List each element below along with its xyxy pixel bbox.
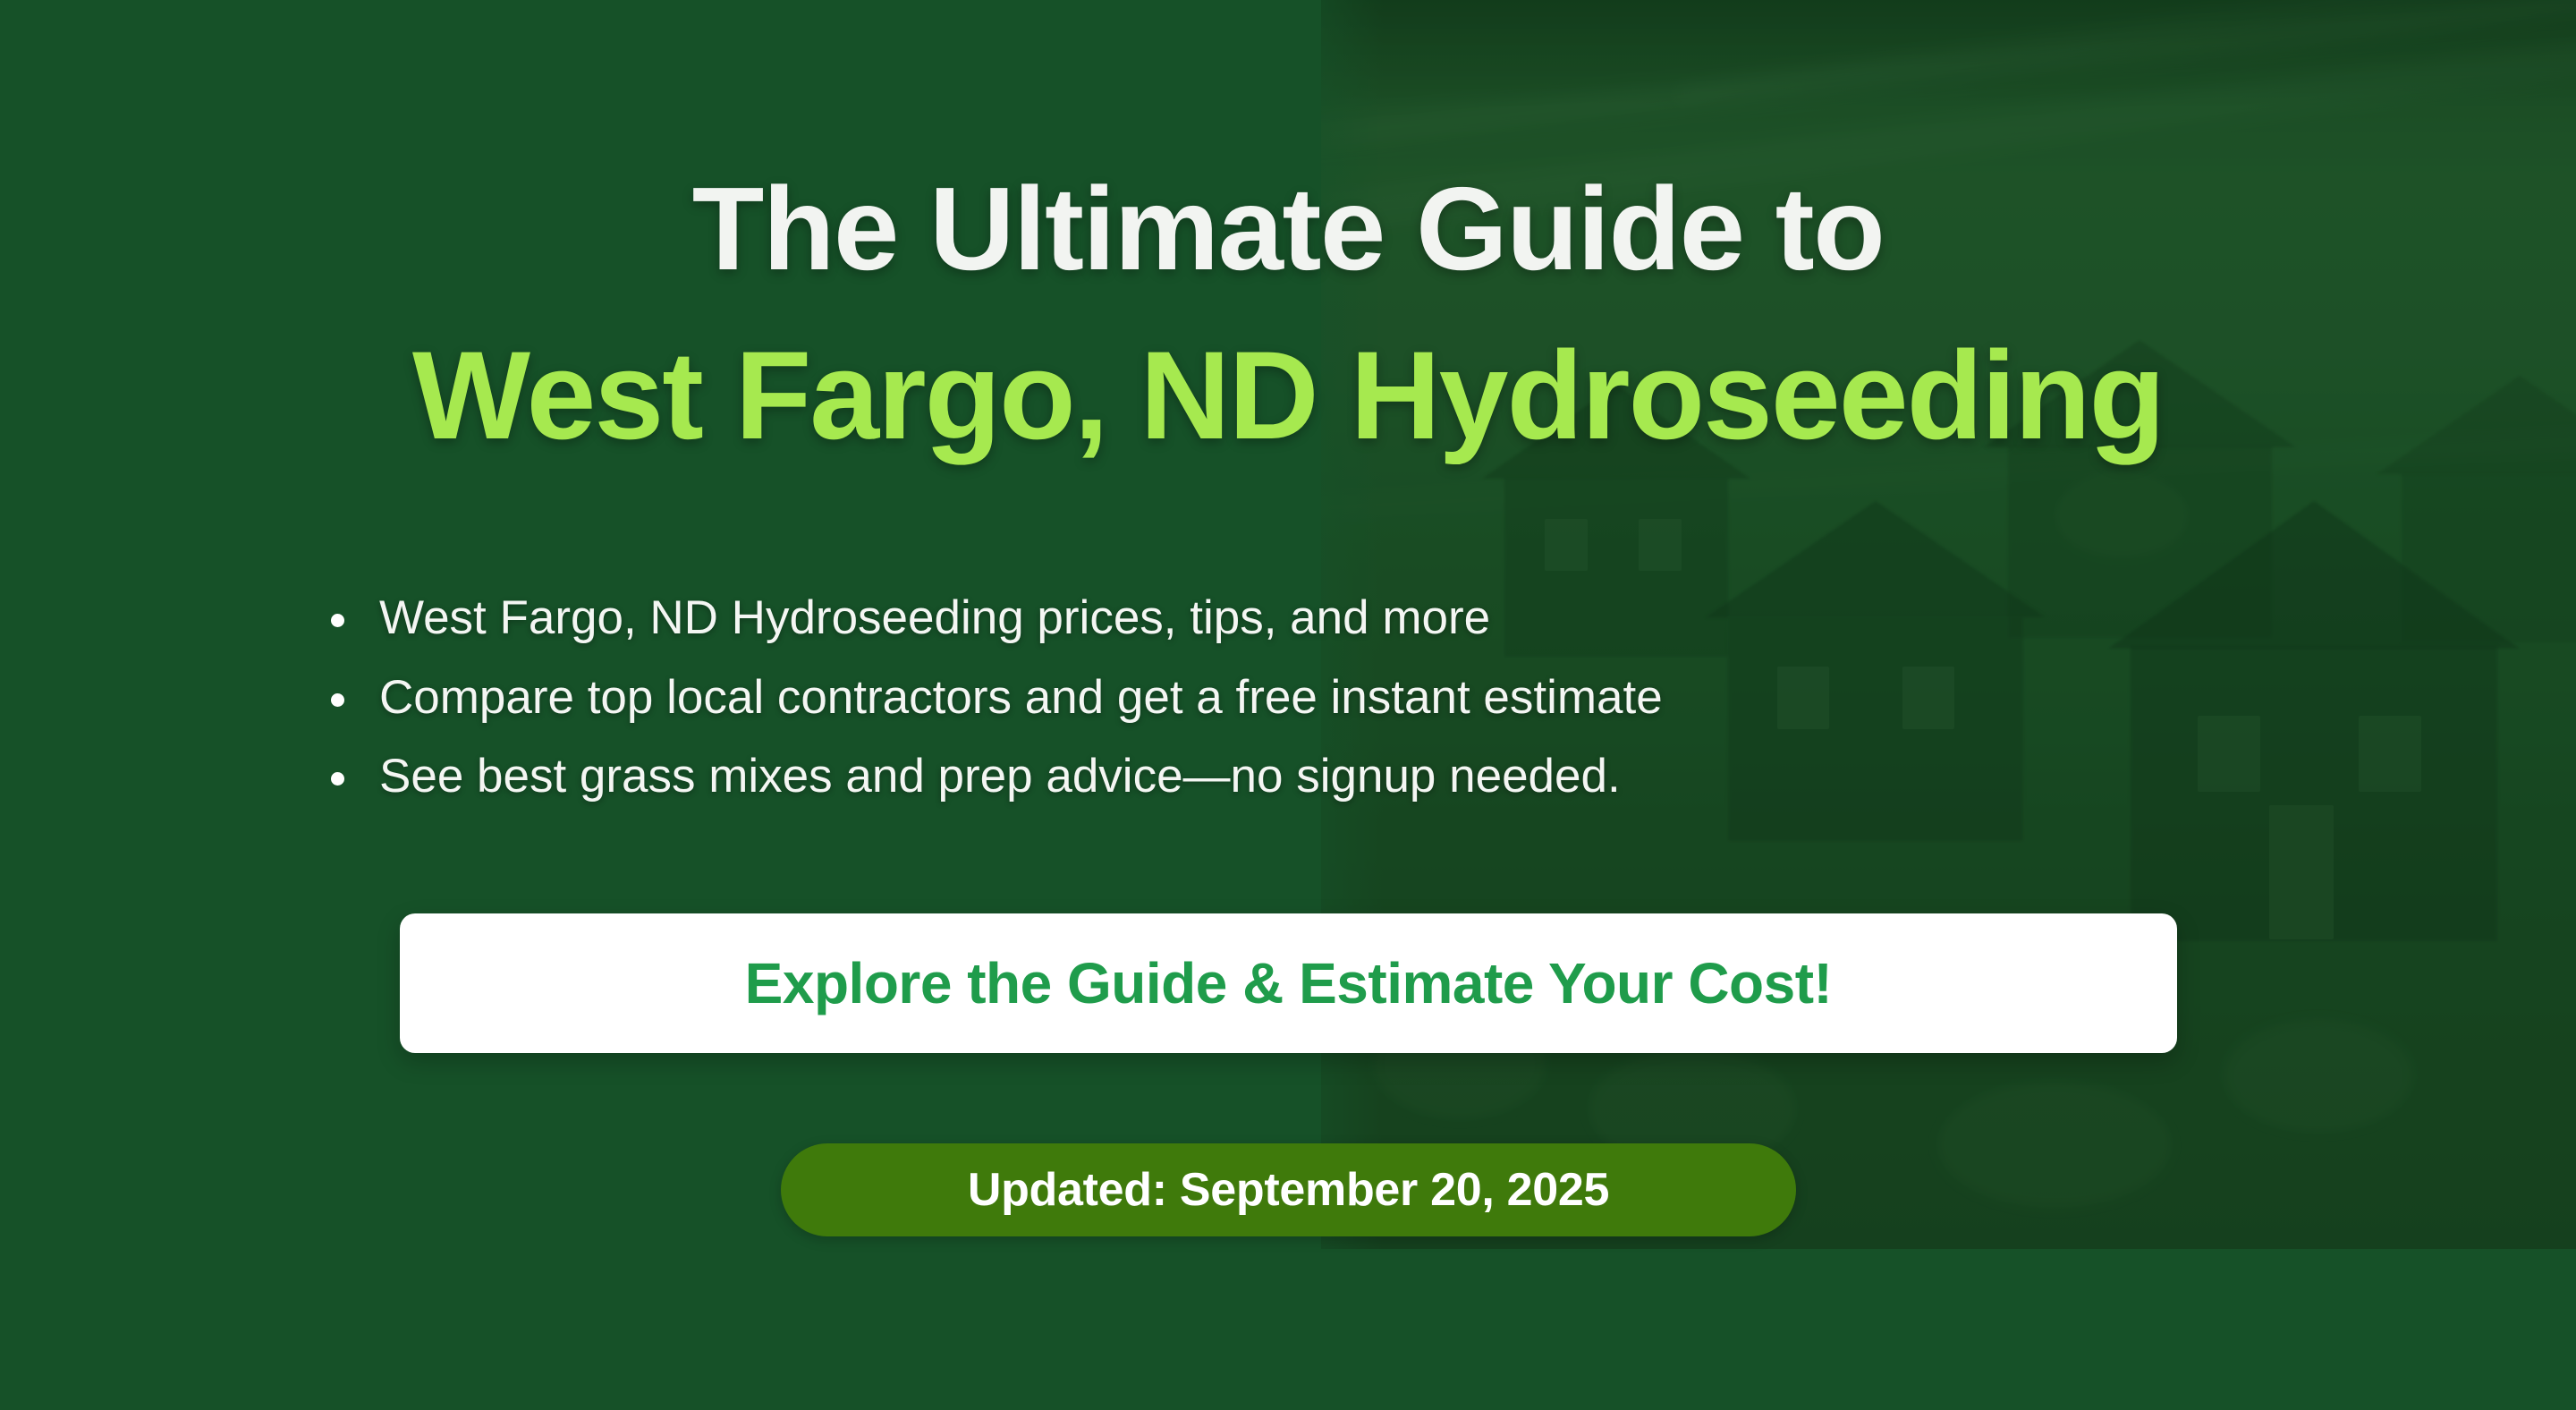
hero-banner: The Ultimate Guide to West Fargo, ND Hyd… [0,0,2576,1410]
updated-date-badge: Updated: September 20, 2025 [781,1143,1796,1236]
list-item: West Fargo, ND Hydroseeding prices, tips… [324,590,1663,647]
list-item-label: See best grass mixes and prep advice—no … [379,750,1621,803]
benefits-list: West Fargo, ND Hydroseeding prices, tips… [324,590,1663,828]
list-item-label: West Fargo, ND Hydroseeding prices, tips… [379,591,1490,644]
headline-line-1: The Ultimate Guide to [0,170,2576,288]
list-item: Compare top local contractors and get a … [324,670,1663,726]
bullet-dot-icon [331,614,344,627]
explore-guide-cta-button[interactable]: Explore the Guide & Estimate Your Cost! [400,913,2177,1053]
list-item-label: Compare top local contractors and get a … [379,671,1663,724]
list-item: See best grass mixes and prep advice—no … [324,749,1663,805]
bullet-dot-icon [331,772,344,786]
bullet-dot-icon [331,693,344,707]
hero-content: The Ultimate Guide to West Fargo, ND Hyd… [0,0,2576,1410]
headline-line-2: West Fargo, ND Hydroseeding [0,333,2576,458]
